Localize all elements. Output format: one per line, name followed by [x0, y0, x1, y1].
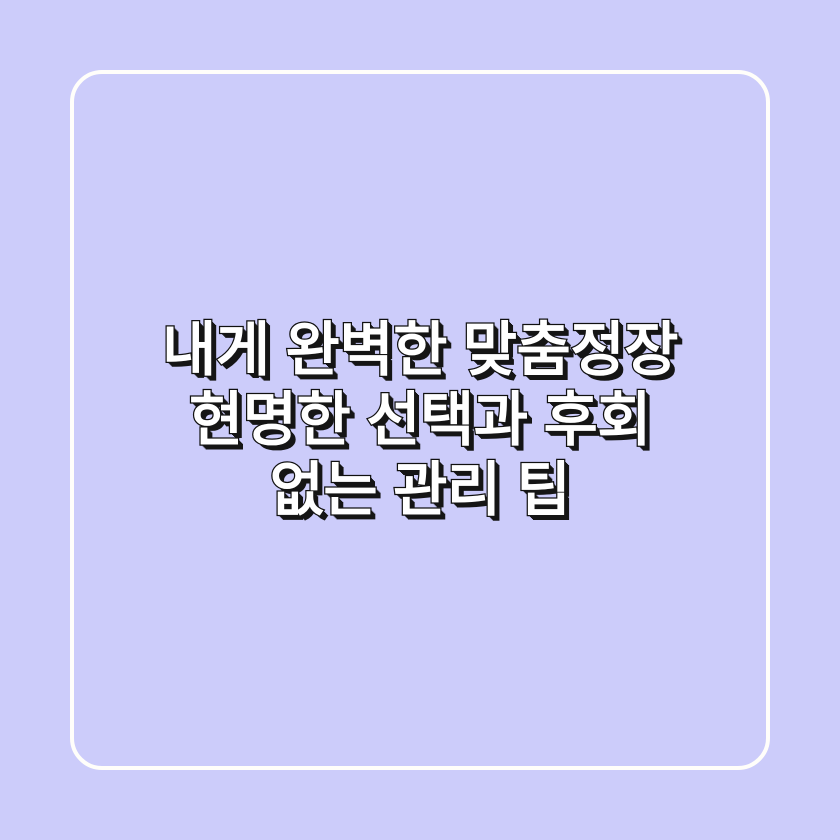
title-line-2: 현명한 선택과 후회: [80, 385, 760, 455]
title-card: 내게 완벽한 맞춤정장 현명한 선택과 후회 없는 관리 팁: [0, 0, 840, 840]
page-title: 내게 완벽한 맞춤정장 현명한 선택과 후회 없는 관리 팁: [0, 0, 840, 840]
title-line-1: 내게 완벽한 맞춤정장: [80, 315, 760, 385]
title-line-3: 없는 관리 팁: [80, 455, 760, 525]
